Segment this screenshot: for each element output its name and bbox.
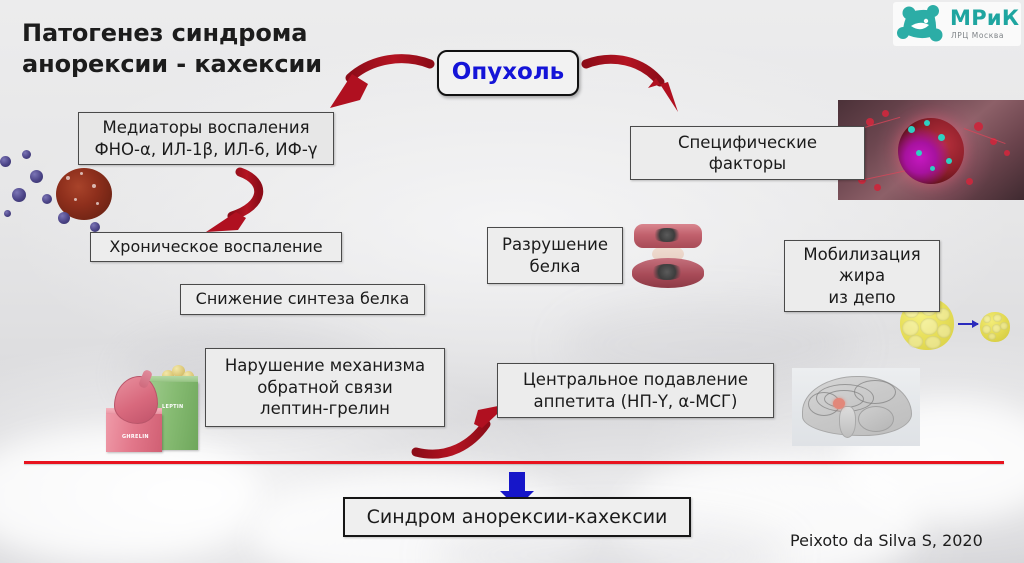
- fat-transition-arrow-icon: [958, 323, 978, 325]
- node-appetite-line-1: Центральное подавление: [517, 369, 754, 390]
- page-title: Патогенез синдрома анорексии - кахексии: [22, 18, 422, 79]
- node-chronic-label: Хроническое воспаление: [103, 237, 328, 258]
- brand-logo: МРиК ЛРЦ Москва: [893, 2, 1021, 46]
- tumor-cell-image: [838, 100, 1024, 200]
- node-protein-line-1: Разрушение: [496, 234, 614, 255]
- slide-canvas: МРиК ЛРЦ Москва Патогенез синдрома аноре…: [0, 0, 1024, 563]
- node-leptin-ghrelin-feedback[interactable]: Нарушение механизма обратной связи лепти…: [205, 348, 445, 427]
- node-tumor-label: Опухоль: [446, 58, 570, 88]
- citation-text: Peixoto da Silva S, 2020: [790, 531, 983, 550]
- node-fat-line-2: жира: [797, 265, 926, 286]
- logo-subtitle-text: ЛРЦ Москва: [951, 31, 1004, 40]
- node-specific-factors[interactable]: Специфические факторы: [630, 126, 865, 180]
- node-specific-line-1: Специфические: [672, 132, 823, 153]
- node-mediators-line-2: ФНО-α, ИЛ-1β, ИЛ-6, ИФ-γ: [88, 139, 323, 160]
- hypothalamus-highlight: [833, 398, 845, 409]
- node-protein-line-2: белка: [496, 256, 614, 277]
- page-title-line-2: анорексии - кахексии: [22, 49, 422, 80]
- ghrelin-leptin-image: LEPTIN GHRELIN: [100, 362, 208, 458]
- brain-stem: [839, 406, 856, 438]
- node-leptin-line-3: лептин-грелин: [219, 398, 431, 419]
- node-syndrome-label: Синдром анорексии-кахексии: [361, 505, 674, 530]
- node-reduced-protein-synthesis[interactable]: Снижение синтеза белка: [180, 284, 425, 315]
- node-fat-line-1: Мобилизация: [797, 244, 926, 265]
- ghrelin-package-label: GHRELIN: [122, 434, 149, 440]
- muscle-breakdown-image: [630, 222, 706, 290]
- node-specific-line-2: факторы: [672, 153, 823, 174]
- node-central-appetite-suppression[interactable]: Центральное подавление аппетита (НП-Y, α…: [497, 363, 774, 418]
- logo-brand-text: МРиК: [950, 8, 1019, 29]
- node-anorexia-cachexia-syndrome[interactable]: Синдром анорексии-кахексии: [343, 497, 691, 537]
- node-appetite-line-2: аппетита (НП-Y, α-МСГ): [517, 391, 754, 412]
- page-title-line-1: Патогенез синдрома: [22, 18, 422, 49]
- fat-globule-small: [980, 312, 1010, 342]
- node-fat-mobilization[interactable]: Мобилизация жира из депо: [784, 240, 940, 312]
- cerebellum: [858, 406, 894, 432]
- node-mediators-line-1: Медиаторы воспаления: [88, 117, 323, 138]
- red-divider-line: [24, 461, 1004, 464]
- brain-image: [792, 368, 920, 446]
- node-fat-line-3: из депо: [797, 287, 926, 308]
- leptin-package-label: LEPTIN: [162, 404, 184, 410]
- node-leptin-line-2: обратной связи: [219, 377, 431, 398]
- node-inflammation-mediators[interactable]: Медиаторы воспаления ФНО-α, ИЛ-1β, ИЛ-6,…: [78, 112, 334, 165]
- node-synthesis-label: Снижение синтеза белка: [190, 289, 416, 310]
- node-tumor[interactable]: Опухоль: [437, 50, 579, 96]
- node-leptin-line-1: Нарушение механизма: [219, 355, 431, 376]
- stomach-icon: [114, 376, 158, 424]
- node-chronic-inflammation[interactable]: Хроническое воспаление: [90, 232, 342, 262]
- node-protein-breakdown[interactable]: Разрушение белка: [487, 227, 623, 284]
